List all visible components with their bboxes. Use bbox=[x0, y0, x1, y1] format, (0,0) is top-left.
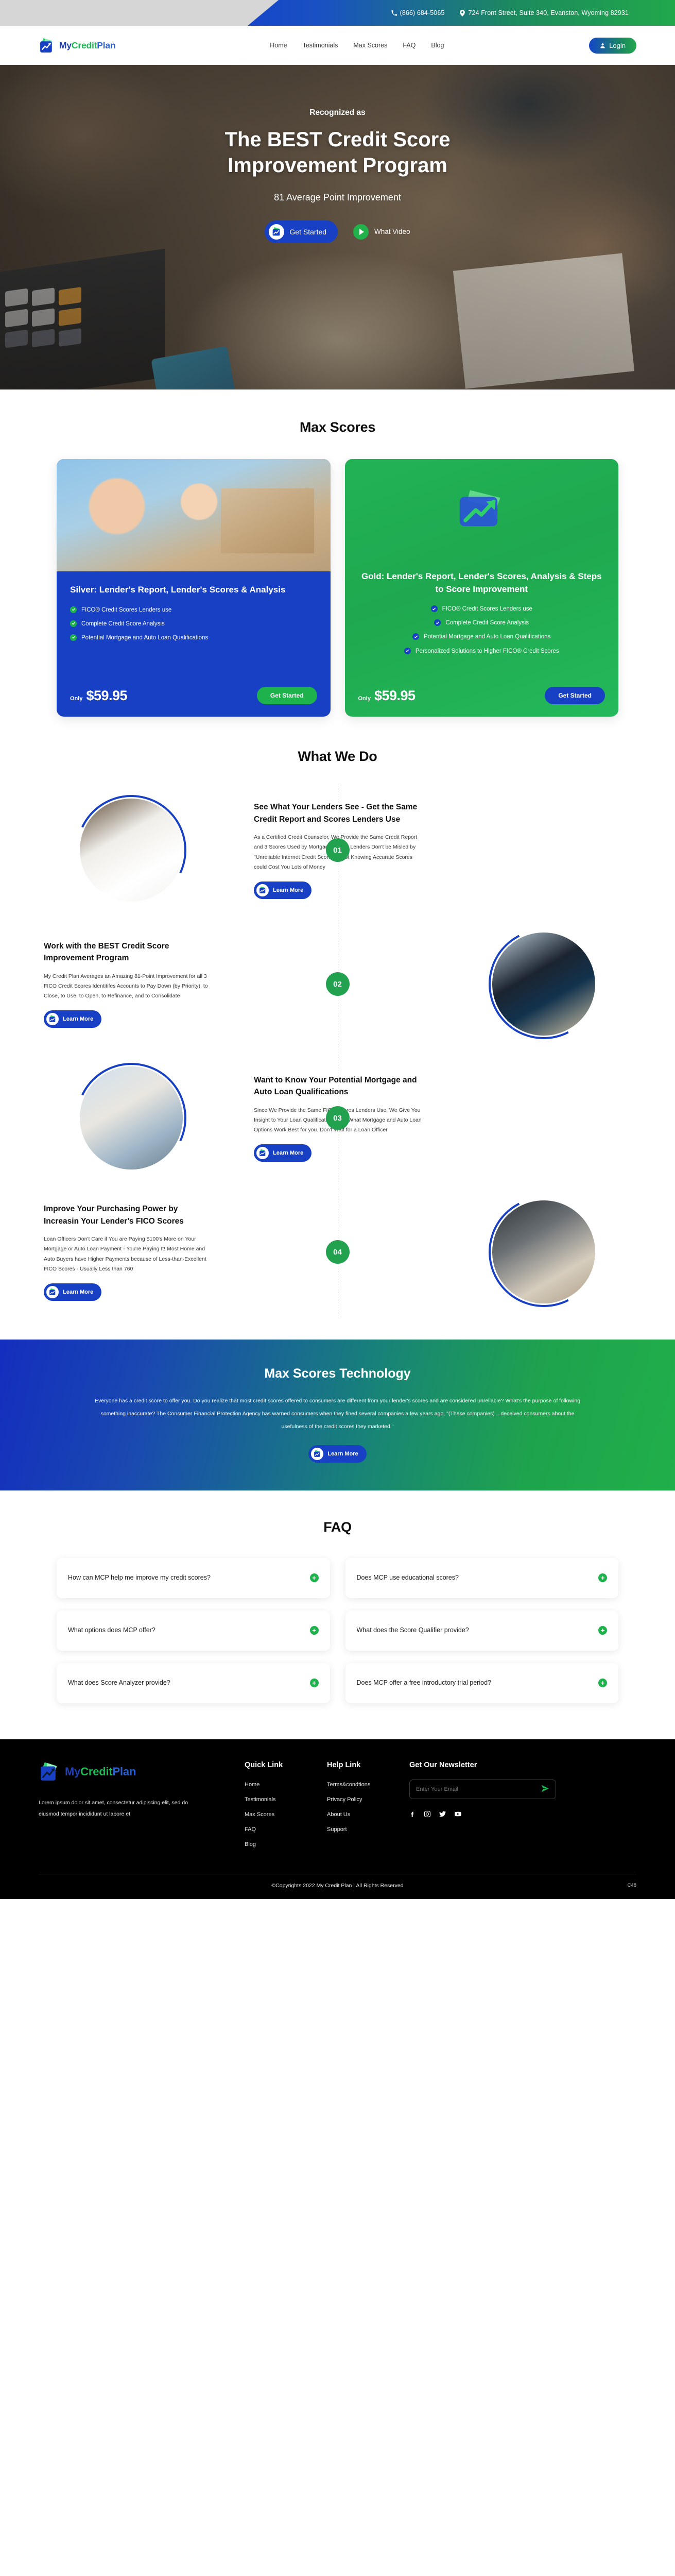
plus-icon[interactable]: + bbox=[310, 1626, 319, 1635]
phone-number: (866) 684-5065 bbox=[400, 9, 445, 16]
wallet-chart-logo-icon bbox=[256, 1147, 269, 1159]
footer-help-links-column: Help Link Terms&condtions Privacy Policy… bbox=[327, 1761, 409, 1854]
step-number-badge-01: 01 bbox=[326, 838, 350, 862]
step-02-image bbox=[451, 933, 636, 1036]
list-item: Potential Mortgage and Auto Loan Qualifi… bbox=[70, 634, 317, 642]
faq-question-6: Does MCP offer a free introductory trial… bbox=[357, 1677, 491, 1688]
step-01-learn-more-button[interactable]: Learn More bbox=[254, 882, 311, 899]
max-scores-technology-section: Max Scores Technology Everyone has a cre… bbox=[0, 1340, 675, 1490]
footer-quick-links-title: Quick Link bbox=[245, 1761, 327, 1769]
technology-heading: Max Scores Technology bbox=[0, 1366, 675, 1381]
list-item: FICO® Credit Scores Lenders use bbox=[70, 606, 317, 614]
faq-item-2[interactable]: Does MCP use educational scores? + bbox=[345, 1558, 619, 1598]
wallet-chart-logo-icon bbox=[39, 1761, 60, 1783]
footer-copyright: ©Copyrights 2022 My Credit Plan | All Ri… bbox=[271, 1883, 403, 1889]
hero-section: Recognized as The BEST Credit Score Impr… bbox=[0, 65, 675, 389]
user-icon bbox=[600, 43, 605, 48]
check-icon bbox=[404, 648, 411, 654]
brand-text-plan: Plan bbox=[97, 40, 115, 50]
brand-logo[interactable]: MyCreditPlan bbox=[39, 37, 115, 54]
gold-price: Only $59.95 bbox=[358, 688, 416, 704]
footer-link-testimonials[interactable]: Testimonials bbox=[245, 1797, 276, 1803]
wallet-chart-logo-icon bbox=[256, 884, 269, 896]
faq-item-3[interactable]: What options does MCP offer? + bbox=[57, 1611, 330, 1651]
site-footer: MyCreditPlan Lorem ipsum dolor sit amet,… bbox=[0, 1739, 675, 1899]
phone-contact[interactable]: (866) 684-5065 bbox=[391, 9, 445, 16]
brand-text-my: My bbox=[59, 40, 72, 50]
hero-title-line-2: Improvement Program bbox=[228, 154, 447, 177]
hero-watch-video-button[interactable]: What Video bbox=[353, 224, 410, 240]
list-item: Potential Mortgage and Auto Loan Qualifi… bbox=[358, 633, 605, 641]
credit-score-laptop-photo bbox=[492, 933, 595, 1036]
wallet-chart-logo-icon bbox=[46, 1013, 59, 1025]
footer-quick-links-column: Quick Link Home Testimonials Max Scores … bbox=[245, 1761, 327, 1854]
gold-get-started-button[interactable]: Get Started bbox=[545, 687, 605, 704]
newsletter-email-input[interactable] bbox=[416, 1786, 536, 1792]
newsletter-form bbox=[409, 1780, 556, 1799]
primary-nav-links: Home Testimonials Max Scores FAQ Blog bbox=[131, 42, 583, 49]
max-scores-heading: Max Scores bbox=[0, 419, 675, 435]
landing-page: (866) 684-5065 724 Front Street, Suite 3… bbox=[0, 0, 675, 1899]
technology-learn-more-label: Learn More bbox=[327, 1451, 358, 1457]
faq-heading: FAQ bbox=[0, 1519, 675, 1535]
faq-item-4[interactable]: What does the Score Qualifier provide? + bbox=[345, 1611, 619, 1651]
faq-item-1[interactable]: How can MCP help me improve my credit sc… bbox=[57, 1558, 330, 1598]
plus-icon[interactable]: + bbox=[310, 1573, 319, 1582]
hero-get-started-label: Get Started bbox=[289, 228, 326, 236]
feature-label: FICO® Credit Scores Lenders use bbox=[81, 606, 171, 614]
price-prefix: Only bbox=[70, 696, 82, 702]
gold-card-title: Gold: Lender's Report, Lender's Scores, … bbox=[358, 570, 605, 596]
silver-card-title: Silver: Lender's Report, Lender's Scores… bbox=[70, 584, 317, 597]
faq-grid: How can MCP help me improve my credit sc… bbox=[0, 1535, 675, 1703]
step-03-heading: Want to Know Your Potential Mortgage and… bbox=[254, 1074, 424, 1098]
feature-label: Complete Credit Score Analysis bbox=[445, 619, 529, 627]
footer-link-about[interactable]: About Us bbox=[327, 1811, 350, 1818]
hero-watch-video-label: What Video bbox=[374, 228, 410, 235]
step-03-learn-more-button[interactable]: Learn More bbox=[254, 1144, 311, 1162]
newsletter-send-button[interactable] bbox=[541, 1784, 549, 1794]
footer-brand-credit: Credit bbox=[80, 1765, 112, 1778]
step-01-image bbox=[39, 799, 224, 902]
phone-icon bbox=[391, 10, 397, 16]
hero-get-started-button[interactable]: Get Started bbox=[265, 221, 338, 243]
wallet-chart-logo-icon bbox=[311, 1448, 323, 1460]
step-02-body: My Credit Plan Averages an Amazing 81-Po… bbox=[44, 972, 216, 1002]
address-contact[interactable]: 724 Front Street, Suite 340, Evanston, W… bbox=[460, 9, 629, 16]
plus-icon[interactable]: + bbox=[598, 1679, 607, 1687]
footer-newsletter-column: Get Our Newsletter bbox=[409, 1761, 636, 1854]
instagram-icon[interactable] bbox=[424, 1810, 431, 1818]
footer-link-max-scores[interactable]: Max Scores bbox=[245, 1811, 274, 1818]
footer-brand-plan: Plan bbox=[113, 1765, 136, 1778]
plus-icon[interactable]: + bbox=[598, 1573, 607, 1582]
wallet-chart-logo-icon bbox=[269, 224, 284, 240]
faq-section: FAQ How can MCP help me improve my credi… bbox=[0, 1490, 675, 1739]
check-icon bbox=[70, 634, 77, 641]
feature-label: Complete Credit Score Analysis bbox=[81, 620, 165, 628]
footer-brand-my: My bbox=[65, 1765, 80, 1778]
feature-label: Potential Mortgage and Auto Loan Qualifi… bbox=[424, 633, 550, 641]
faq-question-2: Does MCP use educational scores? bbox=[357, 1572, 459, 1583]
feature-label: Potential Mortgage and Auto Loan Qualifi… bbox=[81, 634, 208, 642]
silver-get-started-button[interactable]: Get Started bbox=[257, 687, 317, 704]
nav-link-blog[interactable]: Blog bbox=[431, 42, 444, 49]
step-04-image bbox=[451, 1200, 636, 1303]
hero-kicker: Recognized as bbox=[0, 108, 675, 117]
address-text: 724 Front Street, Suite 340, Evanston, W… bbox=[468, 9, 629, 16]
faq-question-4: What does the Score Qualifier provide? bbox=[357, 1625, 469, 1636]
plan-card-gold: Gold: Lender's Report, Lender's Scores, … bbox=[345, 459, 619, 717]
house-in-hands-photo bbox=[80, 1066, 183, 1170]
step-04-learn-more-button[interactable]: Learn More bbox=[44, 1283, 101, 1301]
list-item: Personalized Solutions to Higher FICO® C… bbox=[358, 647, 605, 655]
faq-item-5[interactable]: What does Score Analyzer provide? + bbox=[57, 1663, 330, 1703]
step-04-learn-more-label: Learn More bbox=[63, 1289, 93, 1295]
wallet-chart-logo-icon bbox=[453, 488, 510, 529]
footer-help-links-title: Help Link bbox=[327, 1761, 409, 1769]
footer-link-support[interactable]: Support bbox=[327, 1826, 347, 1833]
check-icon bbox=[431, 605, 438, 612]
login-button-label: Login bbox=[609, 42, 626, 49]
step-01-heading: See What Your Lenders See - Get the Same… bbox=[254, 801, 424, 825]
price-amount: $59.95 bbox=[86, 688, 127, 704]
nav-link-max-scores[interactable]: Max Scores bbox=[353, 42, 387, 49]
footer-link-blog[interactable]: Blog bbox=[245, 1841, 256, 1848]
footer-brand-logo[interactable]: MyCreditPlan bbox=[39, 1761, 245, 1783]
faq-question-3: What options does MCP offer? bbox=[68, 1625, 155, 1636]
footer-link-terms[interactable]: Terms&condtions bbox=[327, 1782, 370, 1788]
footer-build-code: C48 bbox=[628, 1883, 636, 1888]
youtube-icon[interactable] bbox=[454, 1810, 462, 1818]
play-icon bbox=[353, 224, 369, 240]
process-timeline: 01 See What Your Lenders See - Get the S… bbox=[0, 783, 675, 1319]
list-item: FICO® Credit Scores Lenders use bbox=[358, 605, 605, 613]
nav-link-faq[interactable]: FAQ bbox=[403, 42, 416, 49]
location-pin-icon bbox=[460, 10, 465, 16]
what-we-do-heading: What We Do bbox=[0, 749, 675, 765]
step-02-learn-more-label: Learn More bbox=[63, 1016, 93, 1022]
silver-card-photo bbox=[57, 459, 331, 571]
twitter-icon[interactable] bbox=[439, 1810, 446, 1818]
step-04-heading: Improve Your Purchasing Power by Increas… bbox=[44, 1203, 214, 1227]
technology-body: Everyone has a credit score to offer you… bbox=[91, 1395, 585, 1434]
silver-feature-list: FICO® Credit Scores Lenders use Complete… bbox=[70, 606, 317, 648]
brand-text-credit: Credit bbox=[72, 40, 97, 50]
plus-icon[interactable]: + bbox=[598, 1626, 607, 1635]
step-02-learn-more-button[interactable]: Learn More bbox=[44, 1010, 101, 1028]
send-paper-plane-icon bbox=[541, 1784, 549, 1794]
nav-link-testimonials[interactable]: Testimonials bbox=[303, 42, 338, 49]
check-icon bbox=[434, 619, 441, 626]
gold-card-photo bbox=[345, 459, 619, 558]
step-04-body: Loan Officers Don't Care if You are Payi… bbox=[44, 1234, 216, 1275]
check-icon bbox=[70, 620, 77, 627]
main-navbar: MyCreditPlan Home Testimonials Max Score… bbox=[0, 26, 675, 65]
price-amount: $59.95 bbox=[374, 688, 416, 704]
max-scores-section: Max Scores Silver: Lender's Report, Lend… bbox=[0, 389, 675, 717]
hero-subtitle: 81 Average Point Improvement bbox=[0, 192, 675, 203]
footer-link-faq[interactable]: FAQ bbox=[245, 1826, 256, 1833]
list-item: Complete Credit Score Analysis bbox=[70, 620, 317, 628]
credit-report-magnifier-photo bbox=[80, 799, 183, 902]
step-03-learn-more-label: Learn More bbox=[273, 1150, 303, 1156]
process-step-03: 03 Want to Know Your Potential Mortgage … bbox=[0, 1051, 675, 1185]
price-prefix: Only bbox=[358, 696, 371, 702]
footer-link-privacy[interactable]: Privacy Policy bbox=[327, 1797, 362, 1803]
faq-item-6[interactable]: Does MCP offer a free introductory trial… bbox=[345, 1663, 619, 1703]
step-01-learn-more-label: Learn More bbox=[273, 887, 303, 893]
step-number-badge-03: 03 bbox=[326, 1106, 350, 1130]
facebook-icon[interactable] bbox=[409, 1810, 416, 1818]
what-we-do-section: What We Do 01 See What Your Lenders See … bbox=[0, 717, 675, 1340]
check-icon bbox=[412, 633, 419, 640]
process-step-04: Improve Your Purchasing Power by Increas… bbox=[0, 1185, 675, 1319]
top-contact-bar: (866) 684-5065 724 Front Street, Suite 3… bbox=[0, 0, 675, 26]
check-icon bbox=[70, 606, 77, 613]
feature-label: FICO® Credit Scores Lenders use bbox=[442, 605, 532, 613]
step-02-heading: Work with the BEST Credit Score Improvem… bbox=[44, 940, 214, 964]
step-03-image bbox=[39, 1066, 224, 1170]
footer-link-home[interactable]: Home bbox=[245, 1782, 259, 1788]
hero-title-line-1: The BEST Credit Score bbox=[225, 128, 451, 151]
gold-feature-list: FICO® Credit Scores Lenders use Complete… bbox=[358, 605, 605, 660]
wallet-chart-logo-icon bbox=[46, 1286, 59, 1298]
step-number-badge-02: 02 bbox=[326, 972, 350, 996]
process-step-02: Work with the BEST Credit Score Improvem… bbox=[0, 917, 675, 1051]
footer-social-links bbox=[409, 1810, 636, 1818]
footer-about-text: Lorem ipsum dolor sit amet, consectetur … bbox=[39, 1797, 193, 1820]
step-number-badge-04: 04 bbox=[326, 1240, 350, 1264]
wallet-chart-logo-icon bbox=[39, 37, 56, 54]
faq-question-1: How can MCP help me improve my credit sc… bbox=[68, 1572, 211, 1583]
silver-price: Only $59.95 bbox=[70, 688, 127, 704]
list-item: Complete Credit Score Analysis bbox=[358, 619, 605, 627]
login-button[interactable]: Login bbox=[589, 38, 636, 54]
plan-card-silver: Silver: Lender's Report, Lender's Scores… bbox=[57, 459, 331, 717]
footer-newsletter-title: Get Our Newsletter bbox=[409, 1761, 636, 1769]
nav-link-home[interactable]: Home bbox=[270, 42, 287, 49]
feature-label: Personalized Solutions to Higher FICO® C… bbox=[416, 647, 559, 655]
calculator-desk-photo bbox=[492, 1200, 595, 1303]
technology-learn-more-button[interactable]: Learn More bbox=[308, 1445, 366, 1463]
process-step-01: 01 See What Your Lenders See - Get the S… bbox=[0, 783, 675, 917]
plus-icon[interactable]: + bbox=[310, 1679, 319, 1687]
faq-question-5: What does Score Analyzer provide? bbox=[68, 1677, 170, 1688]
